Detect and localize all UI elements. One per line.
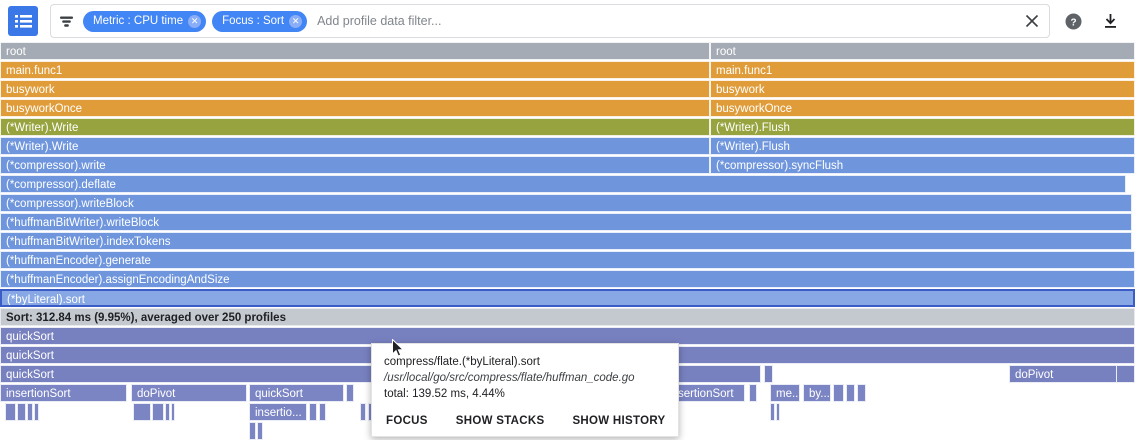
chip-close-icon[interactable]: ✕ [188, 15, 201, 28]
tooltip-actions: FOCUS SHOW STACKS SHOW HISTORY [384, 415, 666, 427]
frame-he-generate[interactable]: (*huffmanEncoder).generate [0, 251, 1135, 269]
show-stacks-button[interactable]: SHOW STACKS [456, 415, 545, 427]
chip-metric[interactable]: Metric : CPU time ✕ [83, 11, 206, 32]
show-history-button[interactable]: SHOW HISTORY [572, 415, 665, 427]
filter-funnel-icon[interactable] [51, 14, 81, 29]
frame-quicksort-4[interactable]: quickSort [249, 384, 344, 402]
frame-micro-10[interactable] [319, 403, 326, 421]
svg-text:?: ? [1070, 17, 1076, 28]
frame-byliteral-sort[interactable]: (*byLiteral).sort [0, 289, 1135, 307]
toolbar: Metric : CPU time ✕ Focus : Sort ✕ ? [0, 0, 1135, 42]
frame-hbw-writeblock[interactable]: (*huffmanBitWriter).writeBlock [0, 213, 1132, 231]
filter-chip-list: Metric : CPU time ✕ Focus : Sort ✕ [83, 11, 307, 32]
chip-close-icon[interactable]: ✕ [289, 15, 302, 28]
frame-compressor-syncflush[interactable]: (*compressor).syncFlush [710, 156, 1135, 174]
frame-tail-3[interactable] [1116, 365, 1135, 383]
frame-busywork-left[interactable]: busywork [0, 80, 710, 98]
frame-micro-11[interactable] [360, 403, 366, 421]
frame-micro-5[interactable] [133, 403, 151, 421]
frame-me-leaf[interactable]: me... [770, 384, 800, 402]
download-icon[interactable] [1100, 11, 1120, 31]
frame-micro-2[interactable] [17, 403, 26, 421]
frame-micro-7[interactable] [165, 403, 170, 421]
clear-filter-icon[interactable] [1015, 13, 1049, 29]
frame-writer-write-1[interactable]: (*Writer).Write [0, 118, 710, 136]
frame-micro-6[interactable] [152, 403, 164, 421]
chip-metric-label: Metric : CPU time [93, 15, 183, 27]
frame-micro-3[interactable] [27, 403, 33, 421]
frame-micro-14[interactable] [776, 403, 780, 421]
tooltip-function-name: compress/flate.(*byLiteral).sort [384, 354, 666, 370]
frame-leaf-a[interactable] [346, 384, 354, 402]
focus-button[interactable]: FOCUS [386, 415, 428, 427]
frame-dopivot-1[interactable]: doPivot [131, 384, 247, 402]
menu-button[interactable] [8, 6, 38, 36]
frame-busyworkonce-right[interactable]: busyworkOnce [710, 99, 1135, 117]
frame-micro-4[interactable] [34, 403, 39, 421]
frame-main-func1-left[interactable]: main.func1 [0, 61, 710, 79]
list-menu-icon [15, 14, 32, 29]
mouse-cursor-icon [392, 339, 405, 363]
frame-writer-write-2[interactable]: (*Writer).Write [0, 137, 710, 155]
frame-leaf-e[interactable] [857, 384, 866, 402]
frame-micro-9[interactable] [309, 403, 317, 421]
frame-main-func1-right[interactable]: main.func1 [710, 61, 1135, 79]
profile-filter-input[interactable] [317, 14, 1015, 28]
frame-by-leaf[interactable]: by... [803, 384, 831, 402]
frame-micro-16[interactable] [257, 422, 263, 440]
frame-root-right[interactable]: root [710, 42, 1135, 60]
frame-busyworkonce-left[interactable]: busyworkOnce [0, 99, 710, 117]
frame-busywork-right[interactable]: busywork [710, 80, 1135, 98]
frame-writer-flush-1[interactable]: (*Writer).Flush [710, 118, 1135, 136]
filter-bar[interactable]: Metric : CPU time ✕ Focus : Sort ✕ [50, 4, 1050, 38]
tooltip-total-value: total: 139.52 ms, 4.44% [384, 386, 666, 402]
frame-insertionsort-1[interactable]: insertionSort [0, 384, 127, 402]
frame-root-left[interactable]: root [0, 42, 710, 60]
frame-leaf-b[interactable] [749, 384, 757, 402]
tooltip-file-path: /usr/local/go/src/compress/flate/huffman… [384, 370, 666, 386]
frame-tooltip: compress/flate.(*byLiteral).sort /usr/lo… [371, 343, 679, 437]
frame-micro-15[interactable] [249, 422, 256, 440]
frame-gap-3a[interactable] [764, 365, 773, 383]
chip-focus[interactable]: Focus : Sort ✕ [212, 11, 307, 32]
frame-insertio-leaf[interactable]: insertio... [249, 403, 307, 421]
frame-compressor-deflate[interactable]: (*compressor).deflate [0, 175, 1126, 193]
flame-graph: root main.func1 busywork busyworkOnce (*… [0, 42, 1135, 433]
flame-summary-bar: Sort: 312.84 ms (9.95%), averaged over 2… [0, 308, 1135, 326]
frame-he-assignencoding[interactable]: (*huffmanEncoder).assignEncodingAndSize [0, 270, 1135, 288]
frame-compressor-writeblock[interactable]: (*compressor).writeBlock [0, 194, 1132, 212]
help-icon[interactable]: ? [1063, 11, 1083, 31]
frame-micro-13[interactable] [770, 403, 775, 421]
frame-leaf-c[interactable] [833, 384, 844, 402]
frame-compressor-write[interactable]: (*compressor).write [0, 156, 710, 174]
chip-focus-label: Focus : Sort [222, 15, 284, 27]
frame-micro-1[interactable] [5, 403, 16, 421]
frame-micro-8[interactable] [171, 403, 175, 421]
frame-writer-flush-2[interactable]: (*Writer).Flush [710, 137, 1135, 155]
frame-leaf-d[interactable] [846, 384, 855, 402]
frame-hbw-indextokens[interactable]: (*huffmanBitWriter).indexTokens [0, 232, 1132, 250]
